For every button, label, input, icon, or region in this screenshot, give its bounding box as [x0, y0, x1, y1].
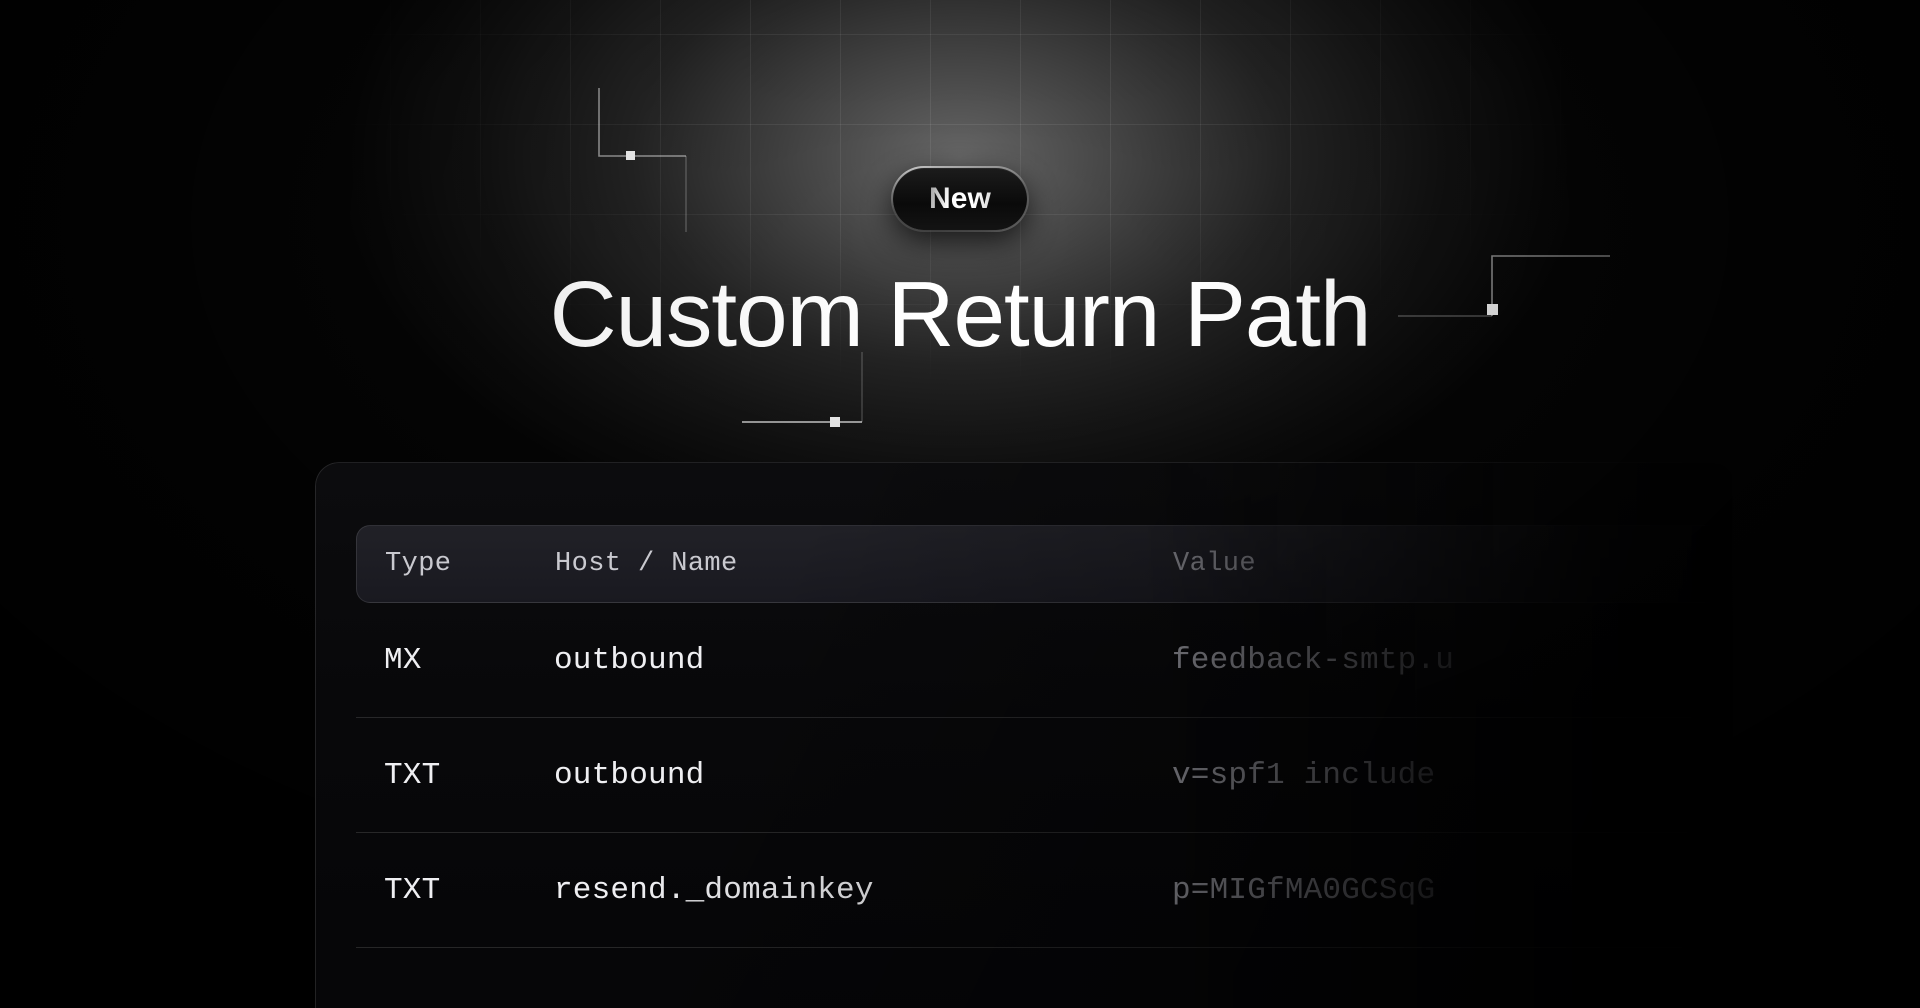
new-badge-pill: New	[893, 168, 1027, 230]
column-header-host: Host / Name	[555, 549, 1173, 579]
cell-type: TXT	[356, 873, 554, 908]
table-row[interactable]: TXT outbound v=spf1 include	[356, 718, 1735, 833]
promo-hero: New Custom Return Path Type Host / Name …	[0, 0, 1920, 1008]
table-row[interactable]: MX outbound feedback-smtp.u	[356, 603, 1735, 718]
new-badge: New	[893, 168, 1027, 230]
circuit-trace-left	[599, 88, 686, 232]
circuit-node-left	[626, 151, 635, 160]
cell-value: feedback-smtp.u	[1172, 643, 1735, 678]
page-title: Custom Return Path	[0, 264, 1920, 364]
cell-host: outbound	[554, 758, 1172, 793]
table-header-row: Type Host / Name Value	[356, 525, 1735, 603]
dns-records-card: Type Host / Name Value MX outbound feedb…	[315, 462, 1735, 1008]
dns-records-table: Type Host / Name Value MX outbound feedb…	[356, 525, 1735, 948]
column-header-value: Value	[1173, 549, 1735, 579]
dns-records-card-body: Type Host / Name Value MX outbound feedb…	[356, 525, 1734, 1008]
column-header-type: Type	[357, 549, 555, 579]
new-badge-label: New	[929, 182, 991, 216]
cell-value: p=MIGfMA0GCSqG	[1172, 873, 1735, 908]
cell-value: v=spf1 include	[1172, 758, 1735, 793]
cell-type: MX	[356, 643, 554, 678]
table-row[interactable]: TXT resend._domainkey p=MIGfMA0GCSqG	[356, 833, 1735, 948]
cell-host: outbound	[554, 643, 1172, 678]
cell-type: TXT	[356, 758, 554, 793]
cell-host: resend._domainkey	[554, 873, 1172, 908]
circuit-node-center	[830, 417, 840, 427]
